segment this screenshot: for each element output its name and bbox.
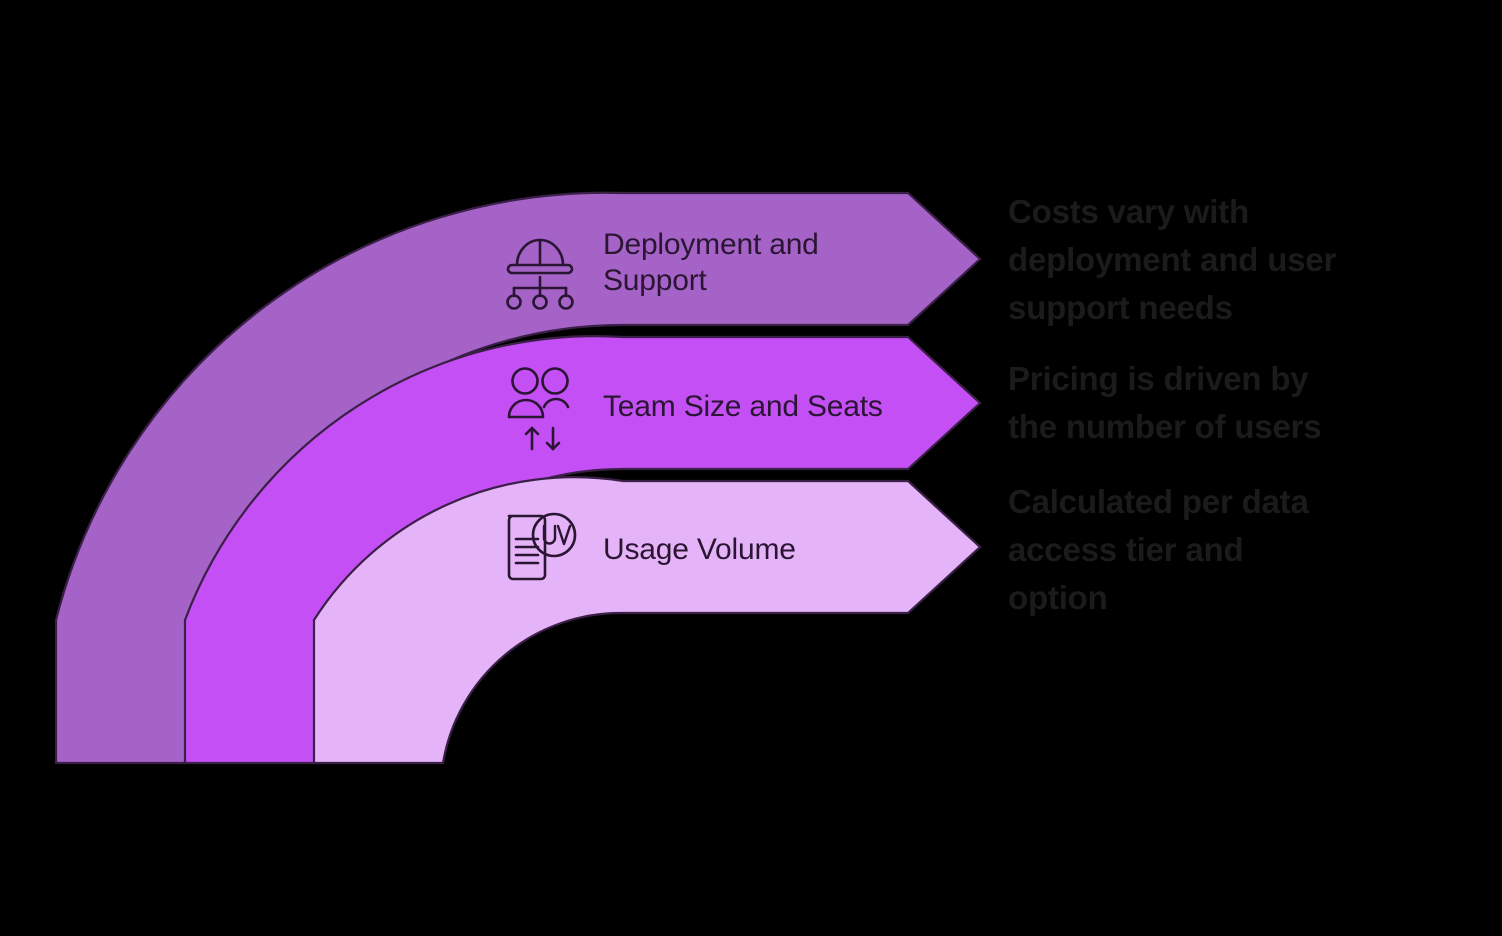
band-label-team-size: Team Size and Seats [603,390,883,423]
description-usage-volume: Calculated per data access tier and opti… [1008,478,1438,622]
description-deployment-and-support: Costs vary with deployment and user supp… [1008,188,1438,332]
band-label-deployment-line2: Support [603,264,708,297]
band-label-deployment-line1: Deployment and [603,228,819,261]
description-team-size-and-seats: Pricing is driven by the number of users [1008,355,1438,451]
arc-funnel-diagram: Deployment and Support Team Size and Sea… [0,0,1502,936]
band-label-usage-volume: Usage Volume [603,533,796,566]
